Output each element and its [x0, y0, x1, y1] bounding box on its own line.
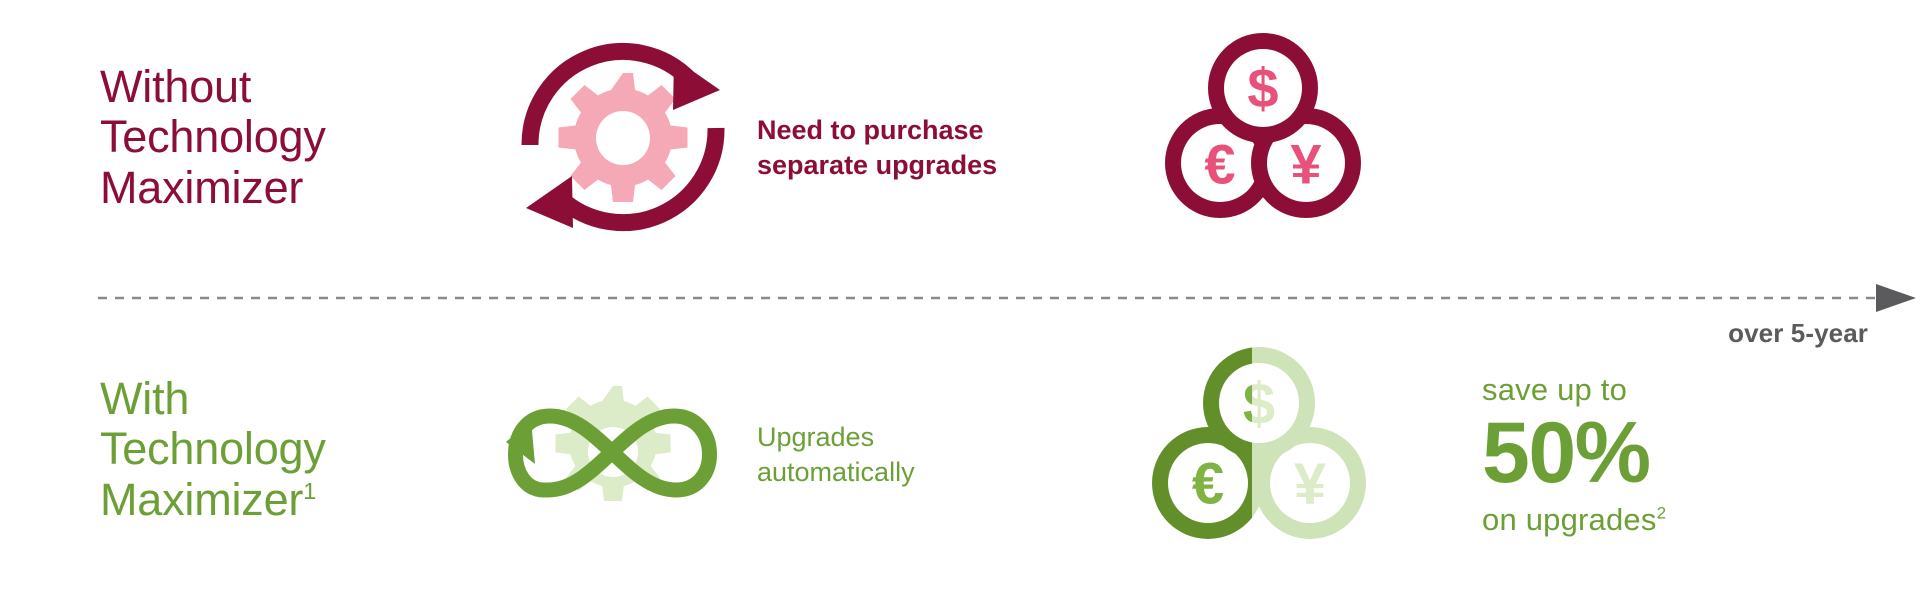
coin-symbol-dollar: $ [1247, 57, 1278, 120]
caption-with-technology-maximizer: Upgrades automatically [757, 420, 915, 490]
row-label-with-technology-maximizer: With Technology Maximizer1 [100, 374, 326, 525]
arrow-right-icon [1876, 284, 1916, 312]
infographic-canvas: Without Technology Maximizer Need to pur… [0, 0, 1920, 592]
timeline-arrow [98, 282, 1920, 314]
svg-text:€: € [1192, 452, 1224, 517]
circular-arrows-gear-icon [508, 28, 738, 233]
savings-suffix-superscript: 2 [1657, 503, 1667, 522]
timeline-label: over 5-year [1728, 318, 1868, 349]
coin-symbol-yen: ¥ [1290, 133, 1321, 196]
savings-suffix-text: on upgrades [1482, 502, 1657, 537]
savings-callout: save up to 50% on upgrades2 [1482, 372, 1802, 537]
coin-symbol-euro: € [1204, 133, 1235, 196]
savings-prefix: save up to [1482, 372, 1802, 408]
coin-stack-half-icon: $ € ¥ $ € ¥ [1138, 340, 1388, 550]
savings-value: 50% [1482, 410, 1802, 496]
row-label-with-text: With Technology Maximizer [100, 373, 326, 525]
row-label-without-technology-maximizer: Without Technology Maximizer [100, 62, 326, 213]
infinity-arrow-gear-icon [488, 372, 738, 547]
row-label-with-superscript: 1 [303, 478, 316, 504]
caption-without-technology-maximizer: Need to purchase separate upgrades [757, 113, 997, 183]
coin-stack-icon: $ € ¥ [1148, 28, 1378, 228]
savings-suffix: on upgrades2 [1482, 502, 1802, 538]
svg-text:¥: ¥ [1294, 452, 1326, 517]
